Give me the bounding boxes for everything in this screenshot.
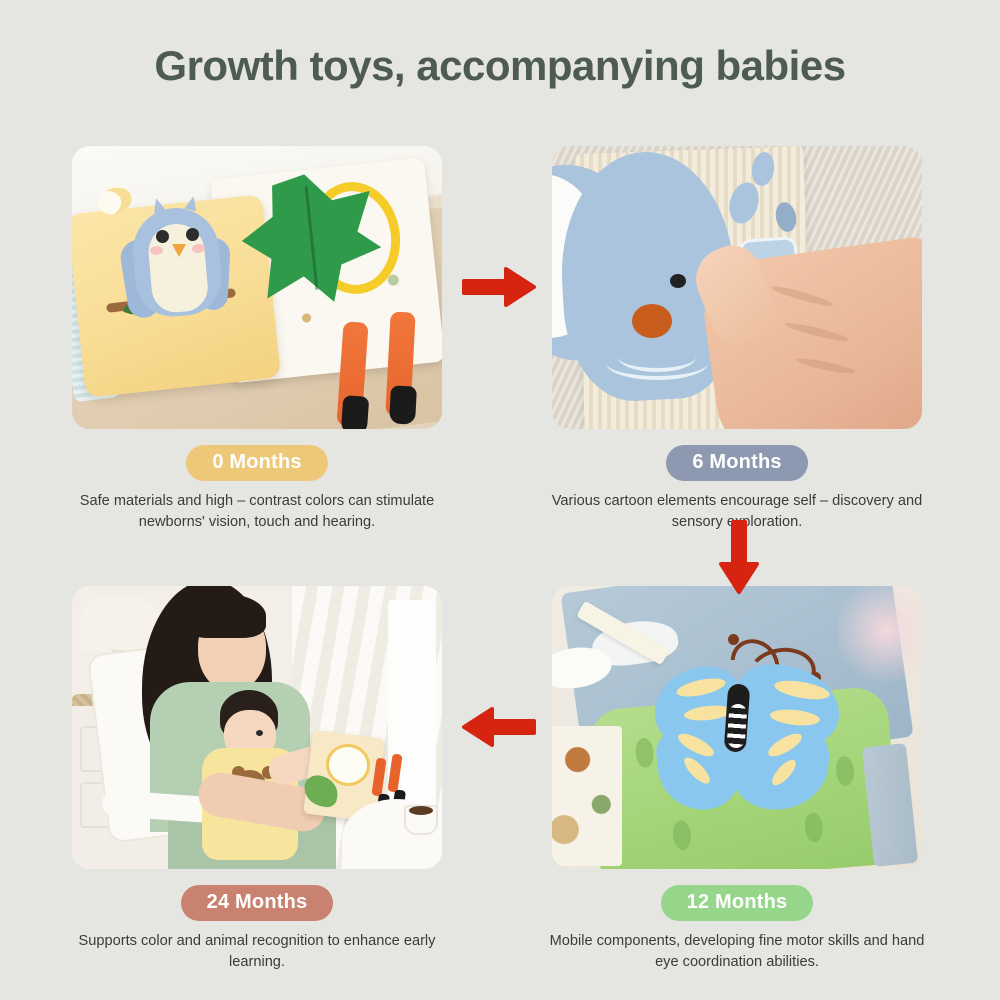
infographic-page: Growth toys, accompanying babies xyxy=(0,0,1000,1000)
stage-card-12-months: 12 Months Mobile components, developing … xyxy=(532,586,942,973)
arrow-right-icon xyxy=(462,266,536,308)
owl-cloth-book-photo xyxy=(72,146,442,429)
age-badge-0-months: 0 Months xyxy=(186,445,327,481)
arrow-down-icon xyxy=(718,520,760,594)
mother-and-baby-reading-photo xyxy=(72,586,442,869)
plush-butterfly-photo xyxy=(552,586,922,869)
elephant-page-hand-photo xyxy=(552,146,922,429)
badge-row: 24 Months xyxy=(52,885,462,921)
stage-caption-24-months: Supports color and animal recognition to… xyxy=(52,931,462,973)
badge-row: 12 Months xyxy=(532,885,942,921)
age-badge-6-months: 6 Months xyxy=(666,445,807,481)
stage-caption-0-months: Safe materials and high – contrast color… xyxy=(52,491,462,533)
stage-caption-12-months: Mobile components, developing fine motor… xyxy=(532,931,942,973)
badge-row: 0 Months xyxy=(52,445,462,481)
stage-card-0-months: 0 Months Safe materials and high – contr… xyxy=(52,146,462,533)
age-badge-12-months: 12 Months xyxy=(661,885,814,921)
stage-card-24-months: 24 Months Supports color and animal reco… xyxy=(52,586,462,973)
page-title: Growth toys, accompanying babies xyxy=(0,42,1000,90)
arrow-left-icon xyxy=(462,706,536,748)
badge-row: 6 Months xyxy=(532,445,942,481)
stage-card-6-months: 6 Months Various cartoon elements encour… xyxy=(532,146,942,533)
age-badge-24-months: 24 Months xyxy=(181,885,334,921)
